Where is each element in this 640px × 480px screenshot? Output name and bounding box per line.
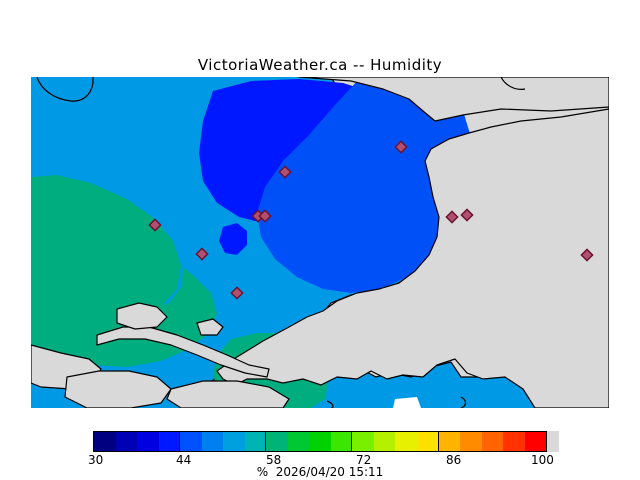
colorbar-segment: [503, 432, 525, 451]
colorbar-segment: [439, 432, 461, 451]
weather-map-page: VictoriaWeather.ca -- Humidity: [0, 0, 640, 480]
colorbar-segment: [460, 432, 482, 451]
humidity-contour-map[interactable]: [31, 77, 609, 408]
colorbar-segment: [116, 432, 138, 451]
colorbar-segment: [482, 432, 504, 451]
colorbar-segment: [245, 432, 267, 451]
page-title: VictoriaWeather.ca -- Humidity: [0, 56, 640, 74]
colorbar-units-timestamp: % 2026/04/20 15:11: [0, 465, 640, 479]
colorbar-segment: [159, 432, 181, 451]
colorbar-segment: [309, 432, 331, 451]
colorbar-segment: [137, 432, 159, 451]
colorbar-segment: [94, 432, 116, 451]
colorbar-segment: [223, 432, 245, 451]
map-canvas: [31, 77, 609, 408]
colorbar-segment: [180, 432, 202, 451]
colorbar-segment: [395, 432, 417, 451]
colorbar-segment: [352, 432, 374, 451]
colorbar-segment: [202, 432, 224, 451]
colorbar-segment: [374, 432, 396, 451]
colorbar-segment: [417, 432, 439, 451]
colorbar-segment: [266, 432, 288, 451]
colorbar-segment: [525, 432, 547, 451]
colorbar[interactable]: [93, 431, 547, 452]
colorbar-segment: [288, 432, 310, 451]
colorbar-overflow-swatch: [547, 431, 559, 452]
land-southwest-2: [65, 371, 171, 408]
colorbar-segment: [331, 432, 353, 451]
